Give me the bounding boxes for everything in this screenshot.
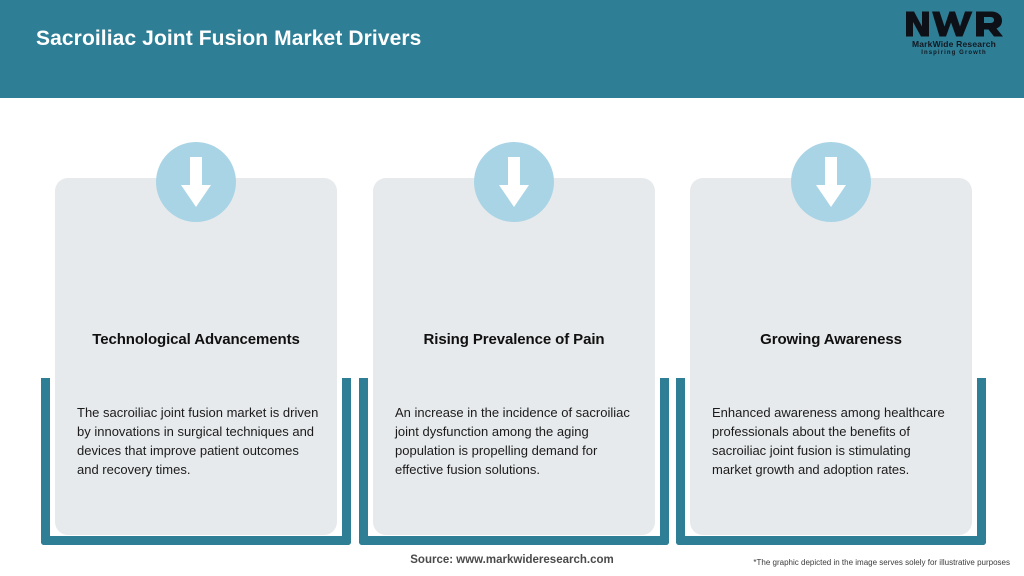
arrow-down-glyph (813, 155, 849, 209)
driver-card-title: Growing Awareness (704, 331, 958, 348)
driver-card-title: Rising Prevalence of Pain (387, 331, 641, 348)
arrow-down-icon (474, 142, 554, 222)
page-title: Sacroiliac Joint Fusion Market Drivers (36, 27, 421, 51)
logo-company-name: MarkWide Research (900, 39, 1008, 49)
driver-card[interactable]: Growing Awareness Enhanced awareness amo… (690, 178, 972, 535)
driver-card-slot: Rising Prevalence of Pain An increase in… (373, 98, 655, 548)
logo-tagline: Inspiring Growth (900, 49, 1008, 57)
driver-card-title: Technological Advancements (69, 331, 323, 348)
driver-cards-container: Technological Advancements The sacroilia… (0, 98, 1024, 548)
arrow-down-glyph (496, 155, 532, 209)
driver-card-slot: Growing Awareness Enhanced awareness amo… (690, 98, 972, 548)
driver-card[interactable]: Rising Prevalence of Pain An increase in… (373, 178, 655, 535)
arrow-down-icon (156, 142, 236, 222)
driver-card-body: Enhanced awareness among healthcare prof… (712, 403, 954, 479)
mwr-logo-icon (904, 9, 1004, 39)
arrow-down-glyph (178, 155, 214, 209)
page-header: Sacroiliac Joint Fusion Market Drivers M… (0, 0, 1024, 98)
driver-card-body: The sacroiliac joint fusion market is dr… (77, 403, 319, 479)
driver-card-slot: Technological Advancements The sacroilia… (55, 98, 337, 548)
arrow-down-icon (791, 142, 871, 222)
driver-card-body: An increase in the incidence of sacroili… (395, 403, 637, 479)
brand-logo: MarkWide Research Inspiring Growth (900, 9, 1008, 61)
disclaimer-label: *The graphic depicted in the image serve… (753, 558, 1010, 567)
driver-card[interactable]: Technological Advancements The sacroilia… (55, 178, 337, 535)
